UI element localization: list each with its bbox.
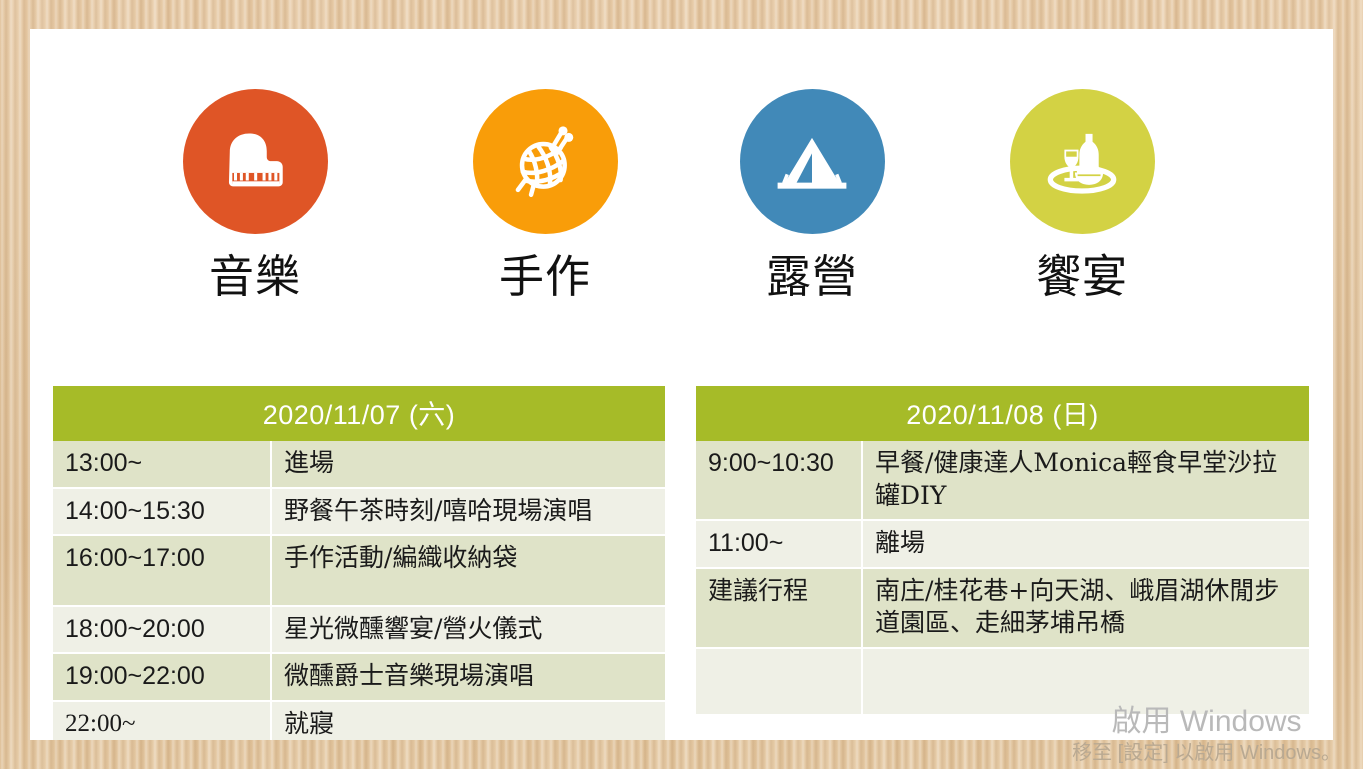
table-row <box>696 648 1309 715</box>
feast-icon <box>1038 118 1126 206</box>
cell-time <box>696 648 862 715</box>
cell-desc: 野餐午茶時刻/嘻哈現場演唱 <box>271 488 665 536</box>
slide-frame: 音樂 <box>0 0 1363 769</box>
category-handcraft-circle <box>473 89 618 234</box>
cell-time: 18:00~20:00 <box>53 606 271 654</box>
category-feast-circle <box>1010 89 1155 234</box>
watermark-subtitle: 移至 [設定] 以啟用 Windows。 <box>1072 741 1341 765</box>
cell-desc: 星光微醺響宴/營火儀式 <box>271 606 665 654</box>
cell-time: 9:00~10:30 <box>696 441 862 520</box>
table-row: 14:00~15:30 野餐午茶時刻/嘻哈現場演唱 <box>53 488 665 536</box>
cell-desc: 離場 <box>862 520 1309 568</box>
cell-desc: 南庄/桂花巷+向天湖、峨眉湖休閒步道園區、走細茅埔吊橋 <box>862 568 1309 648</box>
category-music-label: 音樂 <box>140 250 370 303</box>
table-row: 建議行程 南庄/桂花巷+向天湖、峨眉湖休閒步道園區、走細茅埔吊橋 <box>696 568 1309 648</box>
piano-icon <box>213 120 297 204</box>
category-camping-circle <box>740 89 885 234</box>
category-feast-label: 饗宴 <box>967 250 1197 303</box>
cell-desc: 微醺爵士音樂現場演唱 <box>271 653 665 701</box>
cell-desc: 早餐/健康達人Monica輕食早堂沙拉罐DIY <box>862 441 1309 520</box>
table-row: 2020/11/08 (日) <box>696 386 1309 441</box>
category-feast[interactable]: 饗宴 <box>967 89 1197 303</box>
table-row: 13:00~ 進場 <box>53 441 665 488</box>
table-row: 22:00~ 就寢 <box>53 701 665 741</box>
schedule-day1-title: 2020/11/07 (六) <box>53 386 665 441</box>
cell-time: 建議行程 <box>696 568 862 648</box>
schedule-table-day1: 2020/11/07 (六) 13:00~ 進場 14:00~15:30 野餐午… <box>53 386 665 740</box>
category-handcraft[interactable]: 手作 <box>430 89 660 303</box>
cell-desc: 就寢 <box>271 701 665 741</box>
tent-icon <box>769 119 855 205</box>
yarn-ball-icon <box>504 121 586 203</box>
schedule-table-day2: 2020/11/08 (日) 9:00~10:30 早餐/健康達人Monica輕… <box>696 386 1309 716</box>
cell-time: 19:00~22:00 <box>53 653 271 701</box>
category-camping-label: 露營 <box>697 250 927 303</box>
table-row: 2020/11/07 (六) <box>53 386 665 441</box>
category-music-circle <box>183 89 328 234</box>
cell-desc: 手作活動/編織收納袋 <box>271 535 665 606</box>
cell-time: 16:00~17:00 <box>53 535 271 606</box>
cell-desc: 進場 <box>271 441 665 488</box>
cell-desc <box>862 648 1309 715</box>
table-row: 19:00~22:00 微醺爵士音樂現場演唱 <box>53 653 665 701</box>
category-music[interactable]: 音樂 <box>140 89 370 303</box>
cell-time: 11:00~ <box>696 520 862 568</box>
slide-canvas: 音樂 <box>30 29 1333 740</box>
table-row: 9:00~10:30 早餐/健康達人Monica輕食早堂沙拉罐DIY <box>696 441 1309 520</box>
category-handcraft-label: 手作 <box>430 250 660 303</box>
table-row: 16:00~17:00 手作活動/編織收納袋 <box>53 535 665 606</box>
cell-time: 22:00~ <box>53 701 271 741</box>
schedule-day2-title: 2020/11/08 (日) <box>696 386 1309 441</box>
cell-time: 13:00~ <box>53 441 271 488</box>
cell-time: 14:00~15:30 <box>53 488 271 536</box>
category-camping[interactable]: 露營 <box>697 89 927 303</box>
table-row: 11:00~ 離場 <box>696 520 1309 568</box>
category-icon-row: 音樂 <box>30 89 1333 349</box>
table-row: 18:00~20:00 星光微醺響宴/營火儀式 <box>53 606 665 654</box>
